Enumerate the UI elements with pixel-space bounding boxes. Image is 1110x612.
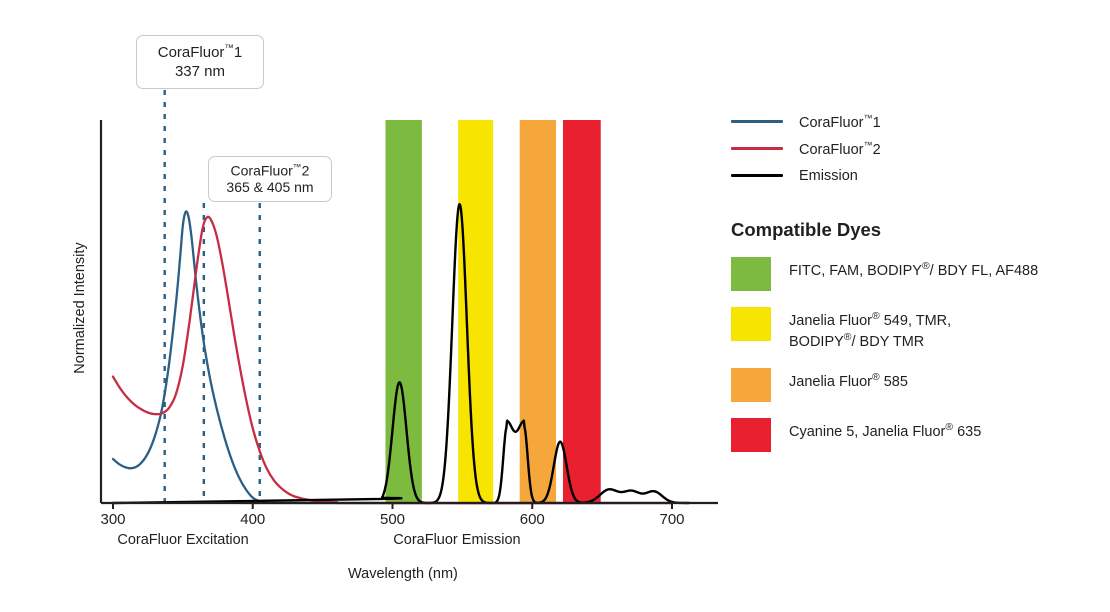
legend-item-0: CoraFluor™1 [731,108,1101,135]
coraflour-2-callout: CoraFluor™2 365 & 405 nm [208,156,332,202]
legend-line-swatch [731,147,783,150]
trademark-icon: ™ [863,140,872,150]
x-axis-title: Wavelength (nm) [348,566,458,582]
emission-range-label: CoraFluor Emission [393,532,520,548]
legend-panel: CoraFluor™1CoraFluor™2Emission Compatibl… [731,108,1101,452]
x-tick-label-500: 500 [363,511,423,528]
emission-band-group [386,120,601,503]
callout-2-line1: CoraFluor™2 [231,162,310,180]
yellow-band [458,120,493,503]
callout-2-line2: 365 & 405 nm [226,179,313,196]
trademark-icon: ™ [863,113,872,123]
x-tick-label-600: 600 [502,511,562,528]
red-band [563,120,601,503]
dye-item-label: Janelia Fluor® 549, TMR,BODIPY®/ BDY TMR [789,305,951,352]
legend-item-1: CoraFluor™2 [731,135,1101,162]
callout-1-line1: CoraFluor™1 [158,43,243,62]
dye-item-2: Janelia Fluor® 585 [731,366,1101,402]
trademark-icon: ™ [224,43,234,53]
trademark-icon: ™ [293,162,302,172]
dye-item-0: FITC, FAM, BODIPY®/ BDY FL, AF488 [731,255,1101,291]
legend-item-2: Emission [731,162,1101,189]
y-axis-title: Normalized Intensity [72,218,88,398]
compatible-dyes-title: Compatible Dyes [731,219,1101,241]
x-tick-label-300: 300 [83,511,143,528]
orange-band [520,120,556,503]
legend-item-label: CoraFluor™2 [799,140,881,158]
x-tick-label-700: 700 [642,511,702,528]
dye-color-swatch [731,307,771,341]
coraflour-1-callout: CoraFluor™1 337 nm [136,35,264,89]
dye-item-label: Cyanine 5, Janelia Fluor® 635 [789,416,981,442]
excitation-marker-group [165,90,260,503]
dye-color-swatch [731,368,771,402]
legend-line-swatch [731,174,783,177]
dye-item-1: Janelia Fluor® 549, TMR,BODIPY®/ BDY TMR [731,305,1101,352]
dye-color-swatch [731,257,771,291]
legend-line-swatch [731,120,783,123]
series-legend: CoraFluor™1CoraFluor™2Emission [731,108,1101,189]
legend-item-label: Emission [799,168,858,184]
dye-item-label: FITC, FAM, BODIPY®/ BDY FL, AF488 [789,255,1038,281]
x-tick-label-400: 400 [223,511,283,528]
spectra-figure: CoraFluor™1 337 nm CoraFluor™2 365 & 405… [0,0,1110,612]
callout-1-line2: 337 nm [175,63,225,81]
dye-color-swatch [731,418,771,452]
compatible-dyes-list: FITC, FAM, BODIPY®/ BDY FL, AF488Janelia… [731,255,1101,452]
legend-item-label: CoraFluor™1 [799,113,881,131]
excitation-range-label: CoraFluor Excitation [117,532,248,548]
dye-item-label: Janelia Fluor® 585 [789,366,908,392]
dye-item-3: Cyanine 5, Janelia Fluor® 635 [731,416,1101,452]
